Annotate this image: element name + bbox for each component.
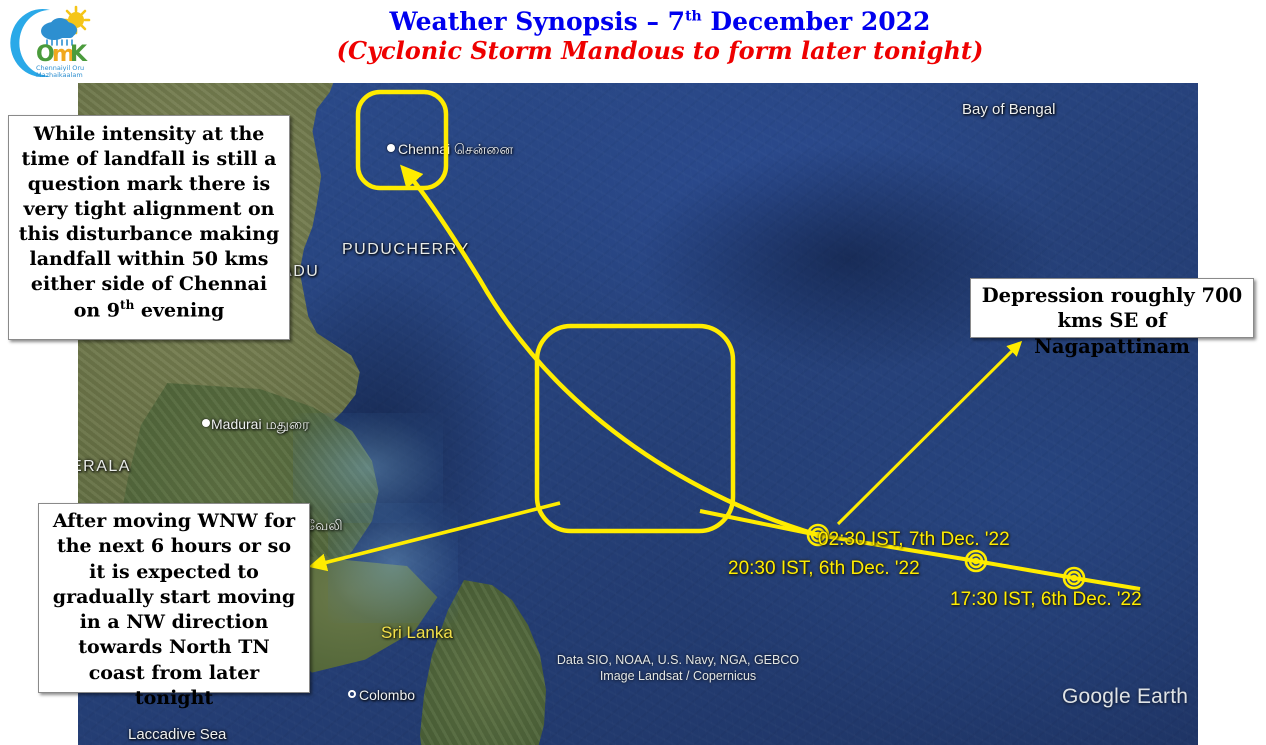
page-title-suffix: December 2022 [702, 7, 931, 36]
city-dot-colombo [348, 690, 356, 698]
callout-landfall-ordinal: th [120, 298, 134, 312]
callout-landfall-text-end: evening [134, 299, 224, 321]
weather-synopsis-slide: O m K Chennaiyil Oru Mazhaikaalam Weathe… [0, 0, 1266, 745]
track-label-2030ist-6dec: 20:30 IST, 6th Dec. '22 [728, 558, 920, 580]
deep-water-shading-2 [638, 143, 1058, 373]
page-title: Weather Synopsis – 7th December 2022 [110, 8, 1210, 36]
page-title-prefix: Weather Synopsis – 7 [390, 7, 686, 36]
city-dot-madurai [202, 419, 210, 427]
comk-logo: O m K Chennaiyil Oru Mazhaikaalam [6, 4, 102, 82]
google-earth-watermark: Google Earth [1062, 685, 1188, 709]
page-subtitle: (Cyclonic Storm Mandous to form later to… [110, 38, 1210, 65]
callout-landfall-intensity: While intensity at the time of landfall … [8, 115, 290, 340]
city-dot-chennai [387, 144, 395, 152]
attribution-line-1: Data SIO, NOAA, U.S. Navy, NGA, GEBCO [508, 653, 848, 669]
attribution-line-2: Image Landsat / Copernicus [508, 669, 848, 685]
map-attribution: Data SIO, NOAA, U.S. Navy, NGA, GEBCO Im… [508, 653, 848, 684]
track-label-0230ist-7dec: 02:30 IST, 7th Dec. '22 [818, 529, 1010, 551]
header: Weather Synopsis – 7th December 2022 (Cy… [110, 8, 1210, 65]
logo-tagline-line2: Mazhaikaalam [36, 71, 83, 79]
track-label-1730ist-6dec: 17:30 IST, 6th Dec. '22 [950, 589, 1142, 611]
callout-storm-movement: After moving WNW for the next 6 hours or… [38, 503, 310, 693]
shallow-water-gulf-mannar [293, 413, 443, 523]
page-title-ordinal: th [685, 9, 702, 25]
callout-landfall-text: While intensity at the time of landfall … [19, 123, 280, 321]
callout-depression-location: Depression roughly 700 kms SE of Nagapat… [970, 278, 1254, 338]
